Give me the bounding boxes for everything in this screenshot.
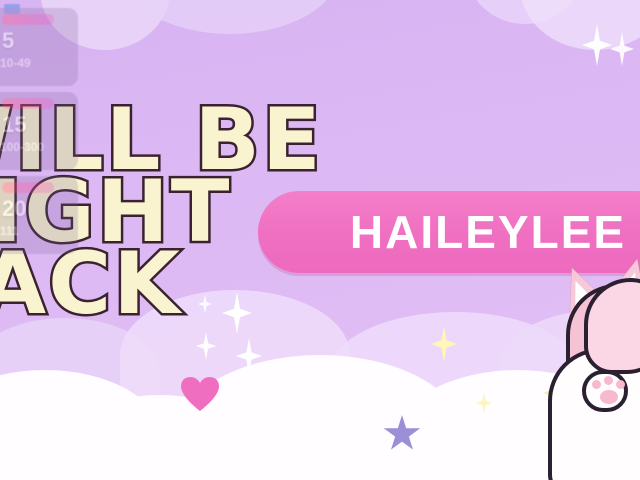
brb-screen: HAILEYLEE WILL BE RIGHT BACK	[0, 0, 640, 480]
streamer-name: HAILEYLEE	[310, 205, 626, 259]
avatar	[538, 270, 640, 480]
gift-alert-overlay: 5 10-49 15 100-300 20 111	[0, 0, 82, 290]
paw-pad-1	[592, 380, 601, 389]
paw-icon	[582, 370, 628, 412]
gift-tier-range: 111	[0, 224, 19, 238]
gift-tier-count: 20	[2, 196, 26, 222]
gift-tier-badge	[2, 14, 54, 25]
gift-tier-range: 10-49	[0, 56, 31, 70]
paw-pad-3	[616, 380, 625, 389]
gift-tier-count: 15	[2, 112, 26, 138]
gift-tier-row: 20 111	[0, 176, 78, 254]
gift-tier-count: 5	[2, 28, 14, 54]
paw-pad-2	[604, 376, 613, 385]
gift-tier-range: 100-300	[0, 140, 44, 154]
gift-tier-row: 15 100-300	[0, 92, 78, 170]
gift-tier-row: 5 10-49	[0, 8, 78, 86]
gift-tier-badge	[2, 182, 54, 193]
gift-tier-badge	[2, 98, 54, 109]
paw-pad-center	[600, 390, 618, 404]
